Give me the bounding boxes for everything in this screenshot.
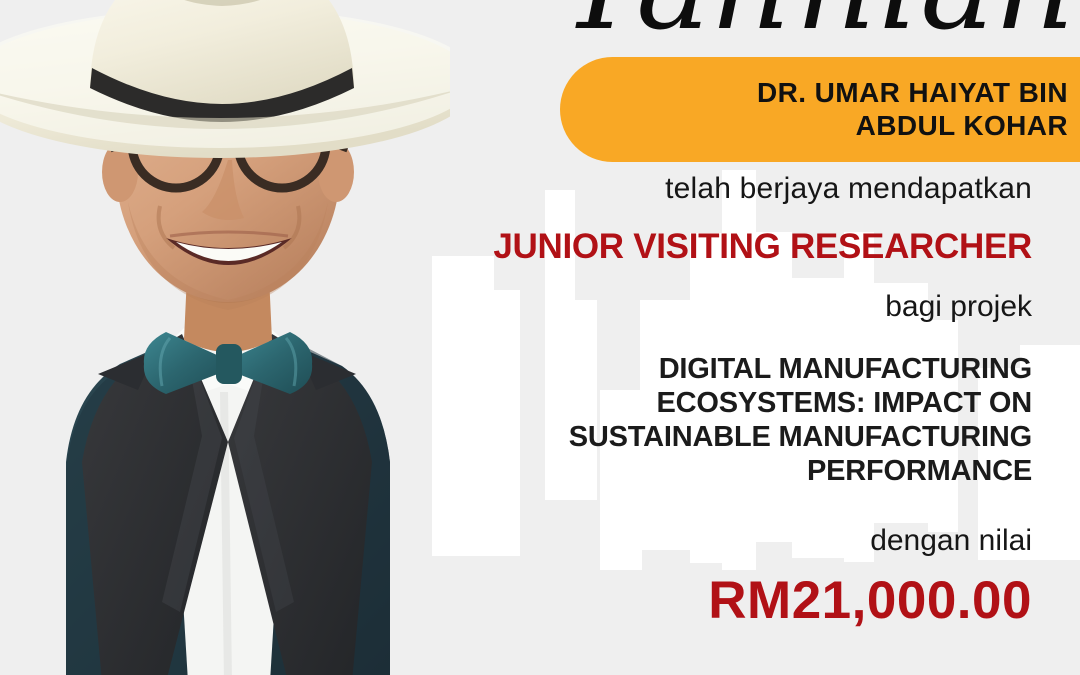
recipient-name-line-1: DR. UMAR HAIYAT BIN bbox=[757, 77, 1068, 109]
award-copy-block: telah berjaya mendapatkan JUNIOR VISITIN… bbox=[412, 170, 1032, 627]
recipient-portrait bbox=[0, 0, 450, 675]
project-title: DIGITAL MANUFACTURING ECOSYSTEMS: IMPACT… bbox=[412, 352, 1032, 489]
recipient-name-line-2: ABDUL KOHAR bbox=[856, 110, 1068, 142]
project-title-line-3: SUSTAINABLE MANUFACTURING bbox=[412, 420, 1032, 454]
recipient-name-banner: DR. UMAR HAIYAT BIN ABDUL KOHAR bbox=[560, 57, 1080, 162]
poster-canvas: Tahniah DR. UMAR HAIYAT BIN ABDUL KOHAR … bbox=[0, 0, 1080, 675]
sub-text: bagi projek bbox=[412, 288, 1032, 326]
script-headline-tahniah: Tahniah bbox=[544, 0, 1080, 46]
award-title: JUNIOR VISITING RESEARCHER bbox=[412, 228, 1032, 267]
project-title-line-2: ECOSYSTEMS: IMPACT ON bbox=[412, 386, 1032, 420]
fedora-hat bbox=[0, 0, 450, 158]
award-amount: RM21,000.00 bbox=[412, 574, 1032, 627]
lead-text: telah berjaya mendapatkan bbox=[412, 170, 1032, 208]
project-title-line-1: DIGITAL MANUFACTURING bbox=[412, 352, 1032, 386]
value-label: dengan nilai bbox=[412, 524, 1032, 558]
project-title-line-4: PERFORMANCE bbox=[412, 454, 1032, 488]
